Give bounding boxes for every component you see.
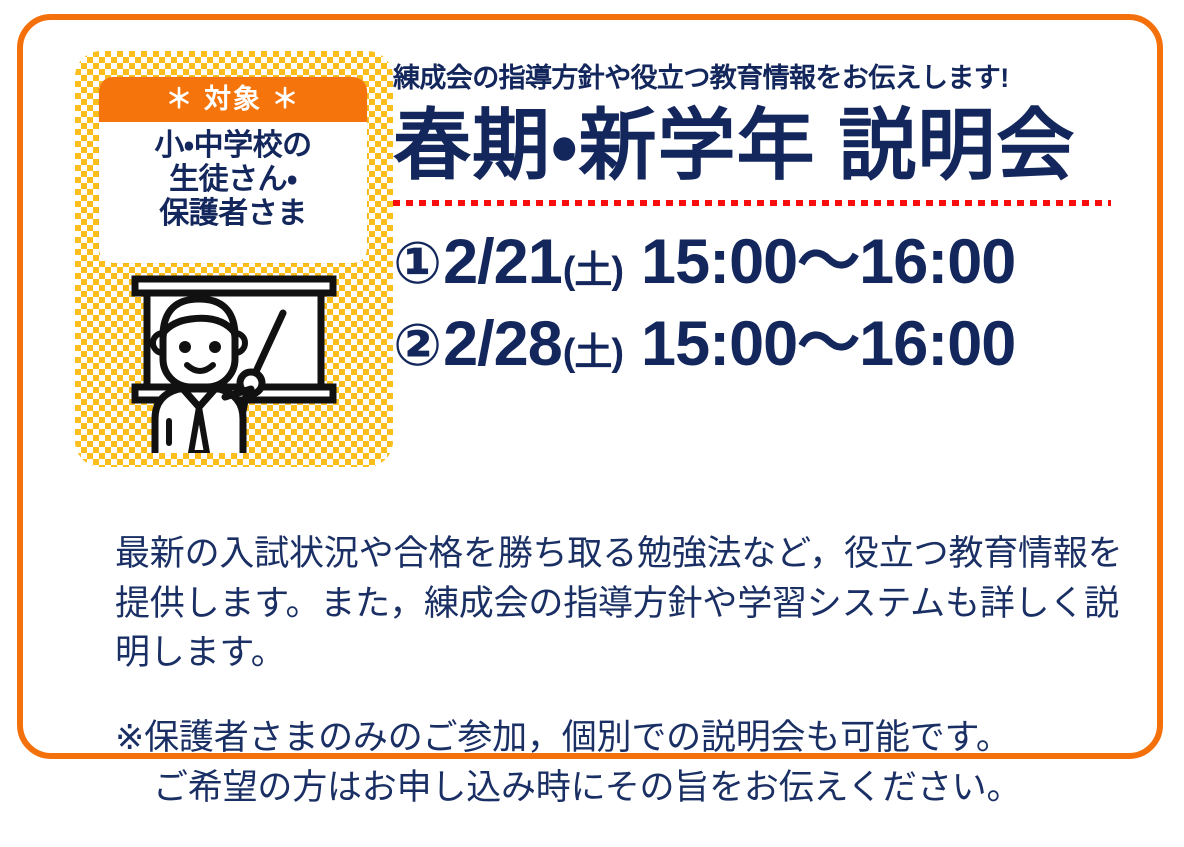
event-subtitle: 練成会の指導方針や役立つ教育情報をお伝えします! [393,64,1133,94]
schedule-list: ① 2/21 (土) 15:00〜16:00 ② 2/28 (土) 15:00〜… [393,222,1133,386]
title-divider [393,200,1111,206]
schedule-row: ② 2/28 (土) 15:00〜16:00 [393,304,1133,386]
flyer-card: ＊ 対象 ＊ 小・中学校の 生徒さん・ 保護者さま [17,14,1163,759]
schedule-day: (土) [563,247,623,296]
schedule-date: 2/21 [443,222,562,304]
audience-line: 小・中学校の [99,129,367,163]
schedule-row: ① 2/21 (土) 15:00〜16:00 [393,222,1133,304]
event-title: 春期・新学年 説明会 [393,106,1133,184]
schedule-day: (土) [563,329,623,378]
audience-line: 保護者さま [99,197,367,231]
description-paragraph: 最新の入試状況や合格を勝ち取る勉強法など，役立つ教育情報を提供します。また，練成… [115,529,1125,678]
note-line: ご希望の方はお申し込み時にその旨をお伝えください。 [115,763,1125,813]
schedule-date: 2/28 [443,304,562,386]
teacher-presenting-icon [121,271,347,453]
note-paragraph: ※保護者さまのみのご参加，個別での説明会も可能です。 ご希望の方はお申し込み時に… [115,713,1125,812]
body-copy: 最新の入試状況や合格を勝ち取る勉強法など，役立つ教育情報を提供します。また，練成… [115,494,1125,847]
schedule-marker: ② [393,308,441,383]
audience-line: 生徒さん・ [99,163,367,197]
schedule-marker: ① [393,226,441,301]
schedule-time: 15:00〜16:00 [641,304,1015,386]
audience-header-label: ＊ 対象 ＊ [165,86,300,113]
headline-column: 練成会の指導方針や役立つ教育情報をお伝えします! 春期・新学年 説明会 ① 2/… [393,64,1133,385]
note-line: ※保護者さまのみのご参加，個別での説明会も可能です。 [115,718,1011,757]
audience-header-band: ＊ 対象 ＊ [99,77,367,122]
audience-lines: 小・中学校の 生徒さん・ 保護者さま [99,122,367,232]
schedule-time: 15:00〜16:00 [641,222,1015,304]
audience-box: ＊ 対象 ＊ 小・中学校の 生徒さん・ 保護者さま [99,77,367,263]
audience-panel: ＊ 対象 ＊ 小・中学校の 生徒さん・ 保護者さま [75,51,393,467]
